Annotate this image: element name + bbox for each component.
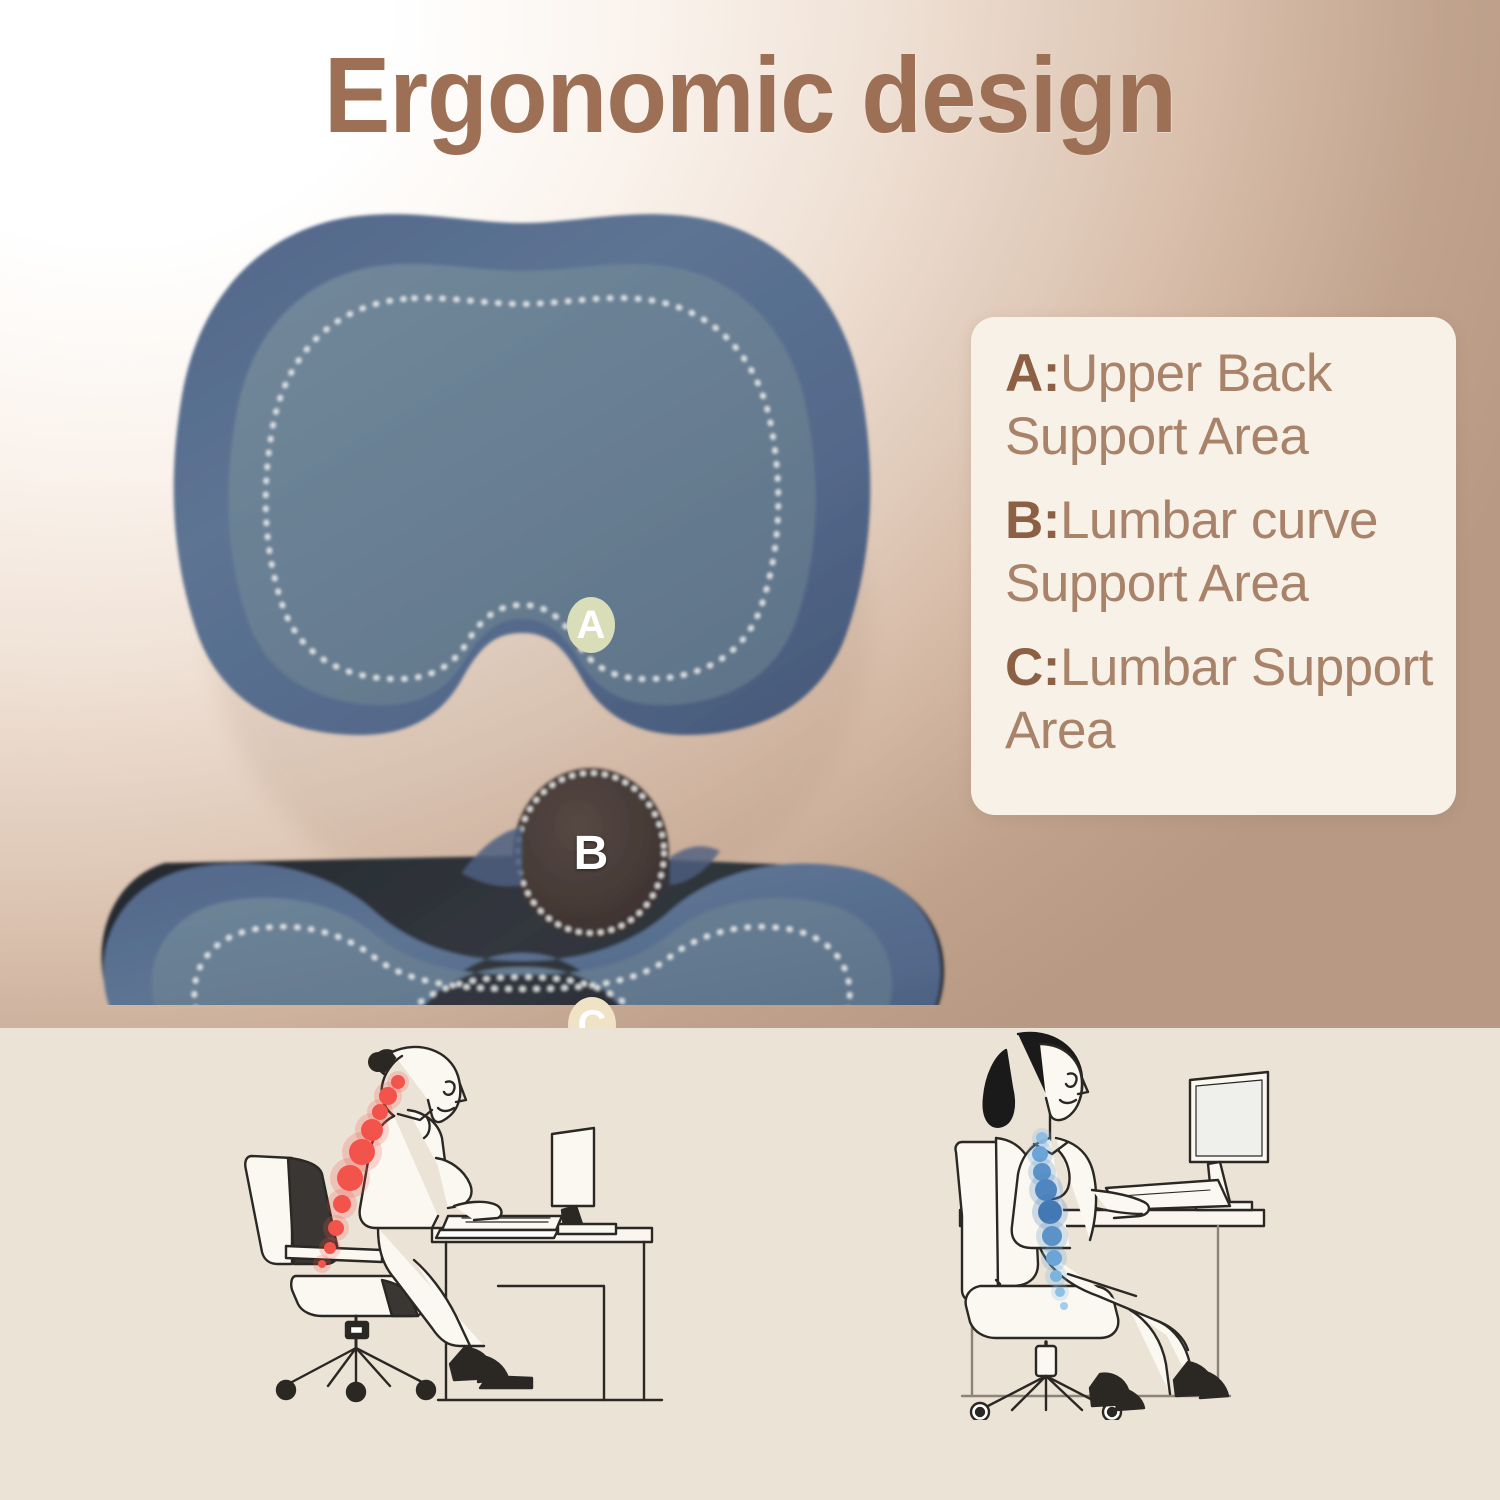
cushion-illustration: A B C [70, 195, 970, 1005]
legend-key-c: C: [1005, 638, 1060, 697]
badge-c-letter: C [578, 1003, 607, 1029]
legend-text-c: Lumbar Support Area [1005, 638, 1433, 760]
zone-badge-b: B [567, 825, 615, 881]
comparison-panel: Before use After use [0, 1028, 1500, 1500]
after-use-illustration [900, 1030, 1340, 1420]
infographic-root: Ergonomic design [0, 0, 1500, 1500]
zone-badge-a: A [567, 597, 615, 653]
legend-item-c: C:Lumbar Support Area [1005, 637, 1456, 762]
zone-legend: A:Upper Back Support Area B:Lumbar curve… [971, 317, 1456, 815]
legend-key-a: A: [1005, 344, 1060, 403]
legend-item-b: B:Lumbar curve Support Area [1005, 490, 1456, 615]
page-title: Ergonomic design [60, 36, 1440, 155]
legend-key-b: B: [1005, 491, 1060, 550]
badge-a-letter: A [577, 603, 606, 648]
badge-b-letter: B [574, 826, 609, 881]
product-panel: Ergonomic design [0, 0, 1500, 1028]
before-use-illustration [232, 1038, 672, 1418]
legend-item-a: A:Upper Back Support Area [1005, 343, 1456, 468]
legend-text-b: Lumbar curve Support Area [1005, 491, 1378, 613]
